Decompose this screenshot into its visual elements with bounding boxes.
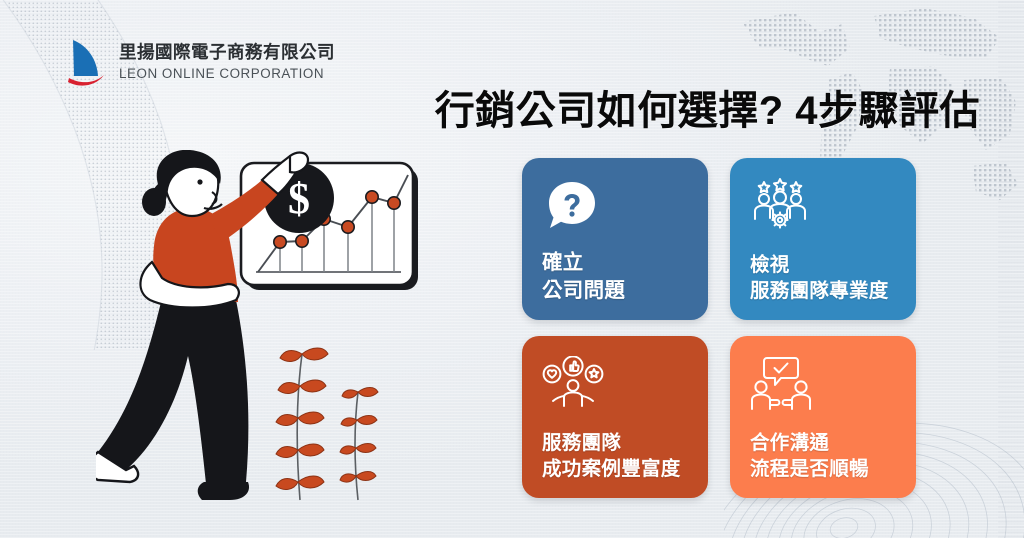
person-thumbsup-heart-star-icon xyxy=(542,356,691,414)
step-card-2-line1: 檢視 xyxy=(750,254,790,276)
step-card-1[interactable]: 確立 公司問題 xyxy=(522,158,708,320)
step-card-1-line2: 公司問題 xyxy=(542,277,691,304)
brand-name-zh: 里揚國際電子商務有限公司 xyxy=(119,44,335,62)
step-card-3[interactable]: 服務團隊 成功案例豐富度 xyxy=(522,336,708,498)
infographic-canvas: 里揚國際電子商務有限公司 LEON ONLINE CORPORATION 行銷公… xyxy=(0,0,1024,538)
step-card-1-line1: 確立 xyxy=(542,251,584,274)
page-title: 行銷公司如何選擇? 4步驟評估 xyxy=(435,78,980,136)
brand-logo-text: 里揚國際電子商務有限公司 LEON ONLINE CORPORATION xyxy=(119,42,335,80)
brand-logo[interactable]: 里揚國際電子商務有限公司 LEON ONLINE CORPORATION xyxy=(64,34,335,88)
two-people-check-chat-icon xyxy=(750,356,899,414)
brand-name-en: LEON ONLINE CORPORATION xyxy=(119,67,335,80)
step-card-4[interactable]: 合作溝通 流程是否順暢 xyxy=(730,336,916,498)
step-card-2-line2: 服務團隊專業度 xyxy=(750,278,899,304)
coin-dollar-symbol: $ xyxy=(288,174,310,223)
plant-small-icon xyxy=(340,388,378,501)
steps-card-grid: 確立 公司問題 xyxy=(522,158,916,498)
question-speech-bubble-icon xyxy=(542,178,691,236)
step-card-2-text: 檢視 服務團隊專業度 xyxy=(750,252,899,304)
step-card-4-line1: 合作溝通 xyxy=(750,432,829,454)
team-rating-gear-icon xyxy=(750,178,899,236)
background-right-band xyxy=(998,0,1024,538)
step-card-4-text: 合作溝通 流程是否順暢 xyxy=(750,430,899,482)
step-card-1-text: 確立 公司問題 xyxy=(542,249,691,304)
step-card-4-line2: 流程是否順暢 xyxy=(750,456,899,482)
step-card-2[interactable]: 檢視 服務團隊專業度 xyxy=(730,158,916,320)
step-card-3-text: 服務團隊 成功案例豐富度 xyxy=(542,430,691,482)
step-card-3-line2: 成功案例豐富度 xyxy=(542,456,691,482)
illustration-woman-presenting-chart: $ xyxy=(96,150,466,510)
plant-large-icon xyxy=(276,348,328,500)
step-card-3-line1: 服務團隊 xyxy=(542,432,621,454)
sail-logo-icon xyxy=(64,34,108,88)
